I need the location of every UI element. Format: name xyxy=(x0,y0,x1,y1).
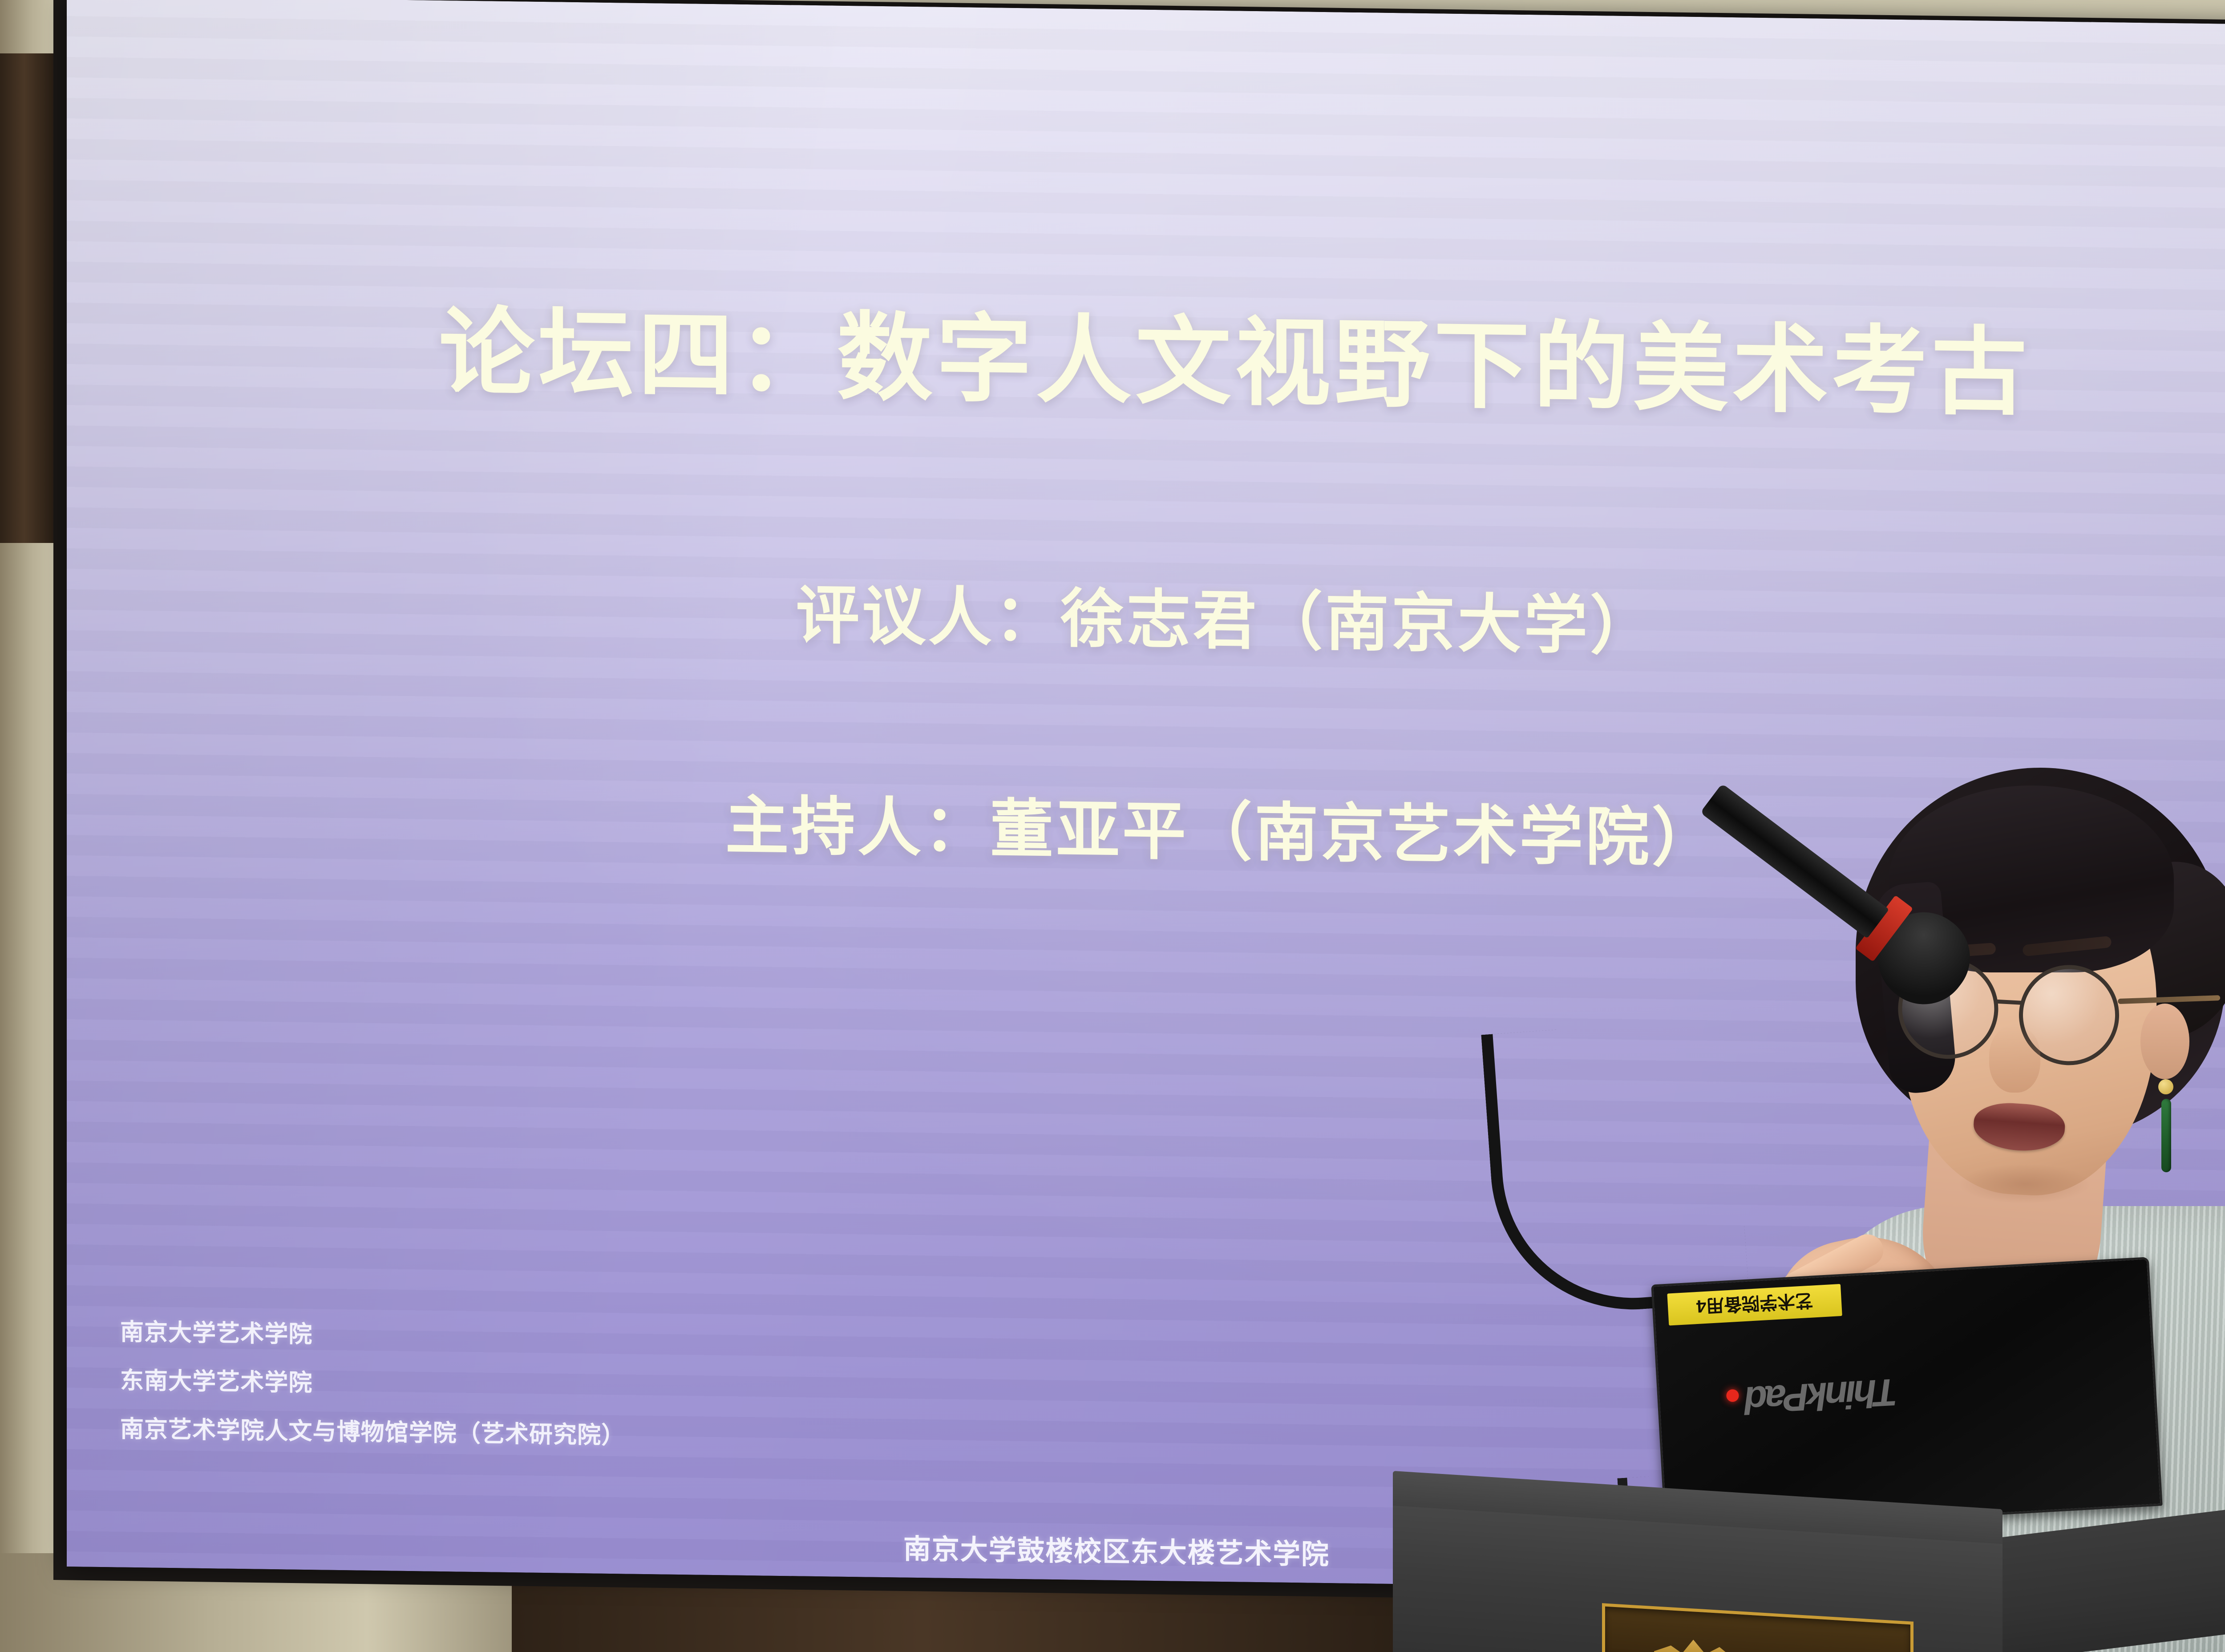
nose xyxy=(1989,1026,2040,1093)
thinkpad-red-dot-icon xyxy=(1726,1389,1740,1402)
organizer-item: 南京大学艺术学院 xyxy=(120,1320,625,1351)
wall-wood-panel-upper-left xyxy=(0,53,53,543)
earring-stud xyxy=(2158,1079,2173,1094)
slide-title: 论坛四：数字人文视野下的美术考古 xyxy=(67,298,2225,429)
sticker-label: 艺术学院备用4 xyxy=(1696,1288,1814,1321)
organizer-item: 南京艺术学院人文与博物馆学院（艺术研究院） xyxy=(120,1417,625,1448)
lectern-side-panel xyxy=(1999,1485,2225,1652)
lectern xyxy=(1393,1471,2225,1652)
slide-organizer-list: 南京大学艺术学院 东南大学艺术学院 南京艺术学院人文与博物馆学院（艺术研究院） xyxy=(120,1320,625,1473)
slide-venue: 南京大学鼓楼校区东大楼艺术学院 xyxy=(903,1526,1330,1572)
jade-earring xyxy=(2158,1079,2173,1173)
organizer-item: 东南大学艺术学院 xyxy=(120,1369,625,1399)
presentation-photo: 论坛四：数字人文视野下的美术考古 评议人：徐志君（南京大学） 主持人：董亚平（南… xyxy=(0,0,2225,1652)
plaque-emblem-icon xyxy=(1654,1632,1748,1652)
chin-shadow xyxy=(1958,1164,2091,1204)
earring-jade-drop xyxy=(2161,1099,2171,1172)
glasses-bridge xyxy=(1995,1000,2023,1005)
slide-discussant-line: 评议人：徐志君（南京大学） xyxy=(67,554,2225,676)
thinkpad-wordmark: ThinkPad xyxy=(1745,1369,1898,1422)
thinkpad-logo-icon: ThinkPad xyxy=(1723,1372,1810,1425)
